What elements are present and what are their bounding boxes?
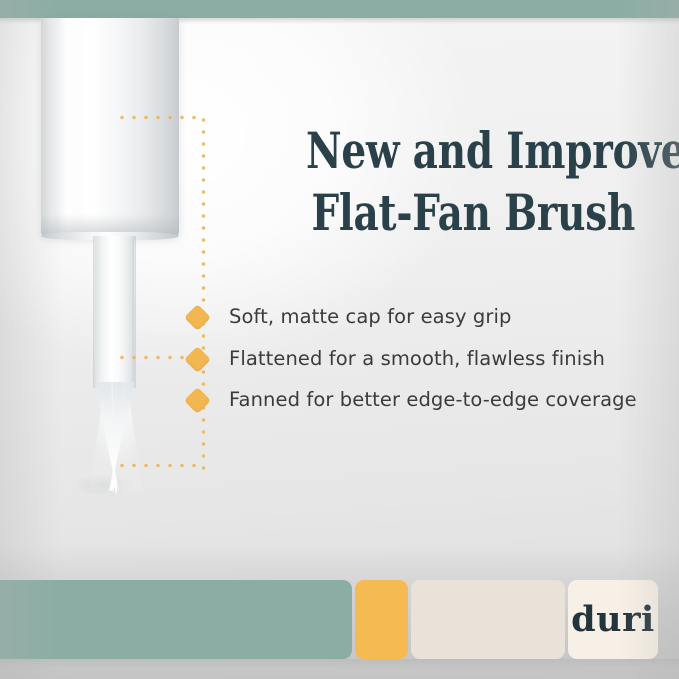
diamond-bullet-icon xyxy=(184,387,211,414)
dotted-connector-vertical xyxy=(201,114,206,470)
headline-line-2: Flat-Fan Brush xyxy=(311,182,586,244)
promo-graphic: New and Improved Flat-Fan Brush Soft, ma… xyxy=(0,0,679,679)
dotted-connector-to-cap xyxy=(116,115,204,120)
brush-stem-right-edge xyxy=(131,236,136,388)
headline-line-1: New and Improved xyxy=(306,120,587,182)
dotted-connector-to-stem xyxy=(116,355,196,360)
brand-bar-segment-green xyxy=(0,580,352,659)
diamond-bullet-icon xyxy=(184,304,211,331)
feature-item-2: Flattened for a smooth, flawless finish xyxy=(188,344,605,374)
brand-bar-segment-amber xyxy=(355,580,408,659)
feature-item-3: Fanned for better edge-to-edge coverage xyxy=(188,385,637,415)
cap-highlight xyxy=(58,18,78,234)
feature-label-2: Flattened for a smooth, flawless finish xyxy=(229,344,605,374)
feature-label-1: Soft, matte cap for easy grip xyxy=(229,302,512,332)
feature-item-1: Soft, matte cap for easy grip xyxy=(188,302,512,332)
headline: New and Improved Flat-Fan Brush xyxy=(306,120,587,244)
brand-bar-segment-beige xyxy=(411,580,565,659)
brand-bar-shadow xyxy=(0,659,679,669)
flat-fan-brush-bristles xyxy=(66,382,166,494)
feature-label-3: Fanned for better edge-to-edge coverage xyxy=(229,385,637,415)
diamond-bullet-icon xyxy=(184,346,211,373)
dotted-connector-to-bristles xyxy=(116,463,204,468)
top-accent-bar xyxy=(0,0,679,18)
brush-stem xyxy=(95,236,134,388)
brand-logo: duri xyxy=(568,594,658,646)
